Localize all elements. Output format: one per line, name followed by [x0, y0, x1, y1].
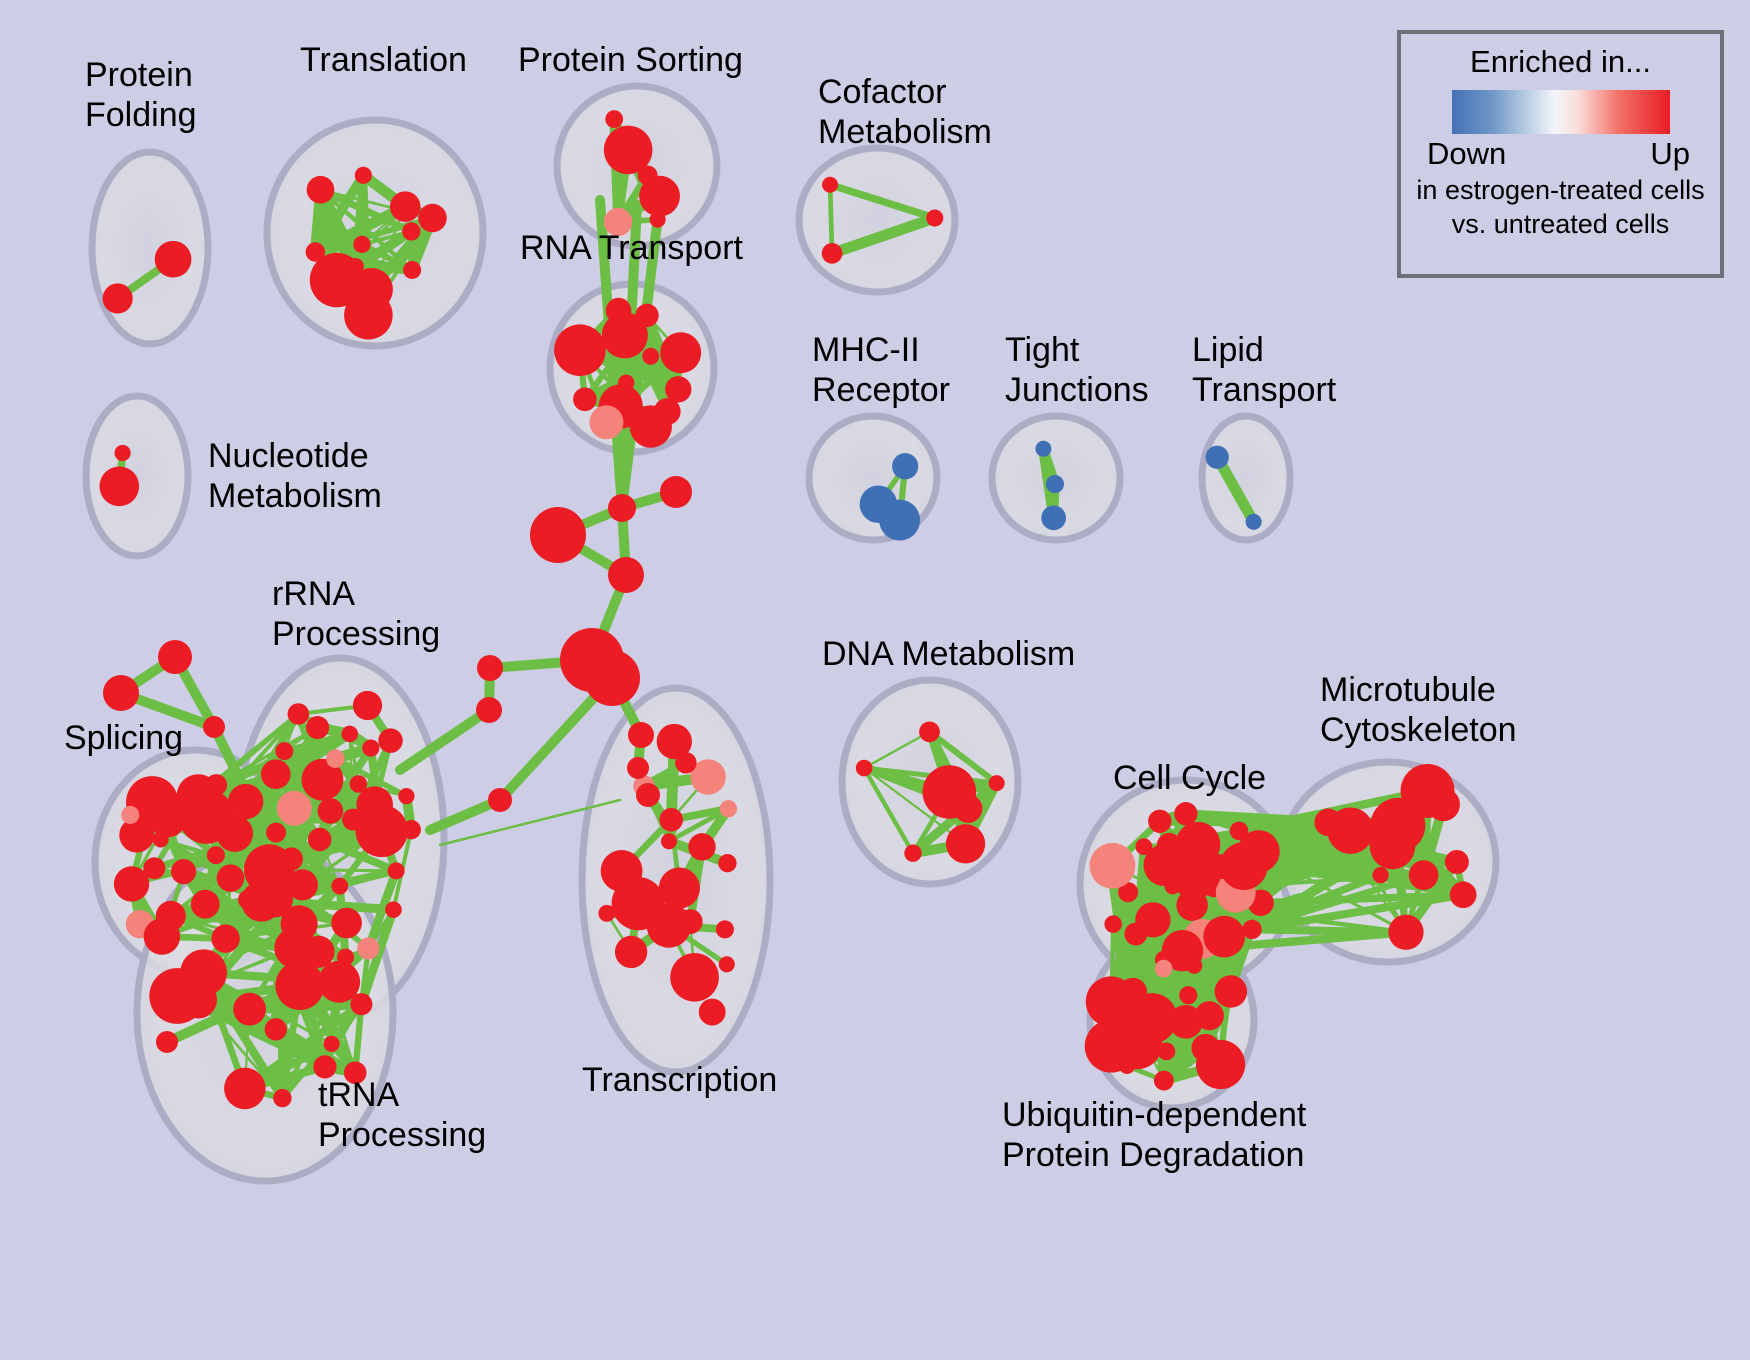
network-node — [636, 783, 660, 807]
network-node — [318, 798, 344, 824]
network-node — [642, 348, 659, 365]
network-node — [904, 844, 921, 861]
network-node — [660, 476, 692, 508]
network-node — [573, 388, 597, 412]
network-node — [1206, 446, 1229, 469]
network-node — [288, 703, 310, 725]
cluster-label-translation: Translation — [300, 40, 467, 80]
legend-box: Enriched in... Down Up in estrogen-treat… — [1397, 30, 1724, 278]
network-node — [1203, 916, 1245, 958]
network-node — [719, 956, 735, 972]
network-node — [989, 775, 1005, 791]
network-node — [378, 728, 402, 752]
network-node — [892, 453, 918, 479]
network-node — [1135, 838, 1152, 855]
network-node — [158, 640, 192, 674]
network-node — [121, 806, 139, 824]
network-node — [180, 949, 227, 996]
network-node — [353, 236, 370, 253]
network-node — [233, 993, 266, 1026]
legend-color-gradient — [1452, 90, 1670, 134]
network-node — [1158, 1042, 1176, 1060]
network-node — [1220, 842, 1268, 890]
cluster-label-mhc-ii-receptor: MHC-II Receptor — [812, 330, 950, 410]
network-node — [211, 924, 239, 952]
network-node — [1450, 881, 1477, 908]
network-node — [228, 784, 263, 819]
network-node — [103, 675, 139, 711]
network-node — [1155, 960, 1173, 978]
network-node — [277, 791, 312, 826]
network-node — [1179, 986, 1197, 1004]
network-node — [1370, 824, 1415, 869]
network-node — [688, 833, 715, 860]
network-node — [1046, 475, 1064, 493]
network-node — [1230, 822, 1249, 841]
network-node — [224, 1068, 266, 1110]
network-node — [115, 445, 131, 461]
network-node — [660, 332, 701, 373]
network-node — [605, 110, 623, 128]
network-node — [350, 268, 393, 311]
cluster-label-tight-junctions: Tight Junctions — [1005, 330, 1149, 410]
network-node — [659, 808, 683, 832]
network-node — [191, 890, 220, 919]
network-node — [716, 920, 734, 938]
network-node — [418, 204, 447, 233]
network-node — [1154, 1071, 1174, 1091]
network-node — [1186, 957, 1202, 973]
network-node — [350, 775, 368, 793]
network-node — [608, 494, 636, 522]
network-node — [1174, 802, 1197, 825]
network-node — [1246, 514, 1262, 530]
network-node — [675, 752, 696, 773]
network-node — [488, 788, 512, 812]
network-node — [275, 742, 293, 760]
network-node — [1409, 860, 1439, 890]
cluster-label-microtubule-cytoskeleton: Microtubule Cytoskeleton — [1320, 670, 1517, 750]
network-node — [143, 857, 165, 879]
network-node — [398, 788, 414, 804]
network-node — [353, 691, 382, 720]
legend-title: Enriched in... — [1401, 44, 1720, 80]
network-node — [589, 405, 623, 439]
network-node — [654, 398, 681, 425]
network-node — [99, 466, 139, 506]
network-node — [822, 243, 843, 264]
network-node — [678, 909, 703, 934]
network-node — [612, 877, 665, 930]
network-node — [476, 697, 502, 723]
cluster-label-transcription: Transcription — [582, 1060, 777, 1100]
network-node — [608, 557, 644, 593]
cluster-label-rrna-processing: rRNA Processing — [272, 574, 440, 654]
legend-low-label: Down — [1427, 136, 1506, 172]
cluster-label-cofactor-metabolism: Cofactor Metabolism — [818, 72, 992, 152]
network-node — [1086, 976, 1137, 1027]
network-node — [217, 864, 245, 892]
network-node — [402, 222, 420, 240]
cluster-ellipse-nucleotide-metabolism — [86, 396, 188, 556]
network-node — [1090, 843, 1136, 889]
cluster-label-nucleotide-metabolism: Nucleotide Metabolism — [208, 436, 382, 516]
network-node — [1104, 915, 1122, 933]
network-node — [266, 823, 286, 843]
network-node — [530, 507, 586, 563]
cluster-label-lipid-transport: Lipid Transport — [1192, 330, 1336, 410]
network-node — [308, 828, 331, 851]
network-node — [265, 1018, 287, 1040]
network-node — [860, 485, 898, 523]
network-node — [326, 749, 345, 768]
network-node — [350, 993, 372, 1015]
network-node — [699, 999, 726, 1026]
cluster-ellipse-protein-folding — [92, 152, 208, 344]
network-node — [628, 722, 654, 748]
network-node — [1196, 1040, 1245, 1089]
network-node — [403, 261, 421, 279]
network-node — [1041, 505, 1066, 530]
network-node — [923, 765, 977, 819]
network-node — [156, 1031, 178, 1053]
network-node — [1035, 441, 1051, 457]
network-figure: Protein FoldingTranslationProtein Sortin… — [0, 0, 1750, 1360]
network-node — [357, 937, 379, 959]
network-node — [388, 862, 405, 879]
network-node — [261, 759, 291, 789]
network-node — [275, 961, 324, 1010]
network-node — [385, 901, 402, 918]
network-node — [306, 242, 325, 261]
network-node — [1195, 1001, 1224, 1030]
network-node — [659, 867, 700, 908]
network-node — [144, 918, 180, 954]
network-node — [390, 191, 421, 222]
network-node — [1242, 920, 1261, 939]
network-node — [1445, 850, 1469, 874]
cluster-label-splicing: Splicing — [64, 718, 183, 758]
network-node — [171, 859, 196, 884]
cluster-label-rna-transport: RNA Transport — [520, 228, 743, 268]
network-node — [554, 324, 606, 376]
network-node — [331, 908, 362, 939]
network-node — [822, 177, 838, 193]
network-node — [273, 1089, 291, 1107]
network-node — [177, 774, 220, 817]
network-node — [718, 854, 736, 872]
network-node — [670, 953, 719, 1002]
network-node — [1314, 809, 1342, 837]
legend-subtitle-line2: vs. untreated cells — [1401, 208, 1720, 240]
network-node — [362, 739, 379, 756]
network-node — [946, 824, 985, 863]
network-node — [355, 167, 372, 184]
cluster-label-dna-metabolism: DNA Metabolism — [822, 634, 1075, 674]
cluster-label-protein-sorting: Protein Sorting — [518, 40, 743, 80]
cluster-label-ubiquitin-protein-degradation: Ubiquitin-dependent Protein Degradation — [1002, 1095, 1306, 1175]
network-node — [203, 716, 225, 738]
network-node — [635, 304, 658, 327]
network-node — [919, 721, 940, 742]
network-node — [281, 905, 318, 942]
network-node — [856, 760, 873, 777]
network-node — [1215, 975, 1247, 1007]
network-node — [606, 298, 632, 324]
network-node — [275, 892, 293, 910]
network-node — [207, 846, 225, 864]
network-node — [627, 757, 649, 779]
network-node — [1124, 923, 1147, 946]
legend-subtitle-line1: in estrogen-treated cells — [1401, 174, 1720, 206]
network-node — [331, 878, 348, 895]
network-node — [1372, 867, 1388, 883]
legend-high-label: Up — [1650, 136, 1690, 172]
cluster-label-cell-cycle: Cell Cycle — [1113, 758, 1266, 798]
cluster-label-trna-processing: tRNA Processing — [318, 1075, 486, 1155]
network-node — [1148, 810, 1171, 833]
network-node — [1401, 764, 1455, 818]
network-node — [720, 800, 737, 817]
network-node — [306, 716, 329, 739]
network-node — [341, 726, 358, 743]
network-node — [615, 936, 647, 968]
network-node — [604, 126, 653, 175]
network-node — [661, 833, 677, 849]
network-node — [1388, 915, 1423, 950]
network-node — [155, 241, 192, 278]
network-node — [926, 209, 943, 226]
network-node — [477, 655, 503, 681]
cluster-label-protein-folding: Protein Folding — [85, 55, 197, 135]
network-node — [324, 1036, 340, 1052]
network-node — [639, 176, 680, 217]
network-node — [584, 650, 640, 706]
network-node — [307, 176, 335, 204]
network-node — [103, 283, 133, 313]
